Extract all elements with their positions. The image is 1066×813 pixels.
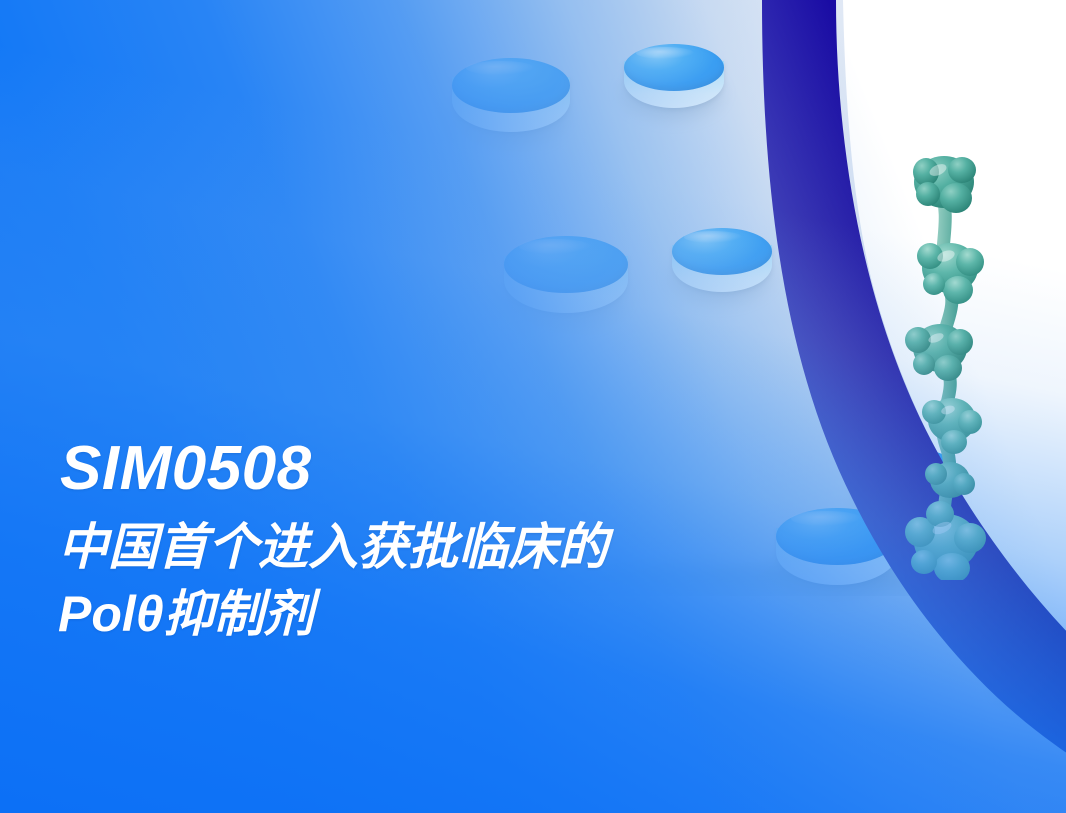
product-name-headline: SIM0508 xyxy=(60,438,608,500)
subtitle-line-1: 中国首个进入获批临床的 xyxy=(58,514,608,581)
slide-canvas: SIM0508 中国首个进入获批临床的 Polθ抑制剂 xyxy=(0,0,1066,813)
headline-block: SIM0508 中国首个进入获批临床的 Polθ抑制剂 xyxy=(58,438,608,648)
brand-blue-overlay-secondary xyxy=(0,0,1066,813)
subtitle-line-2: Polθ抑制剂 xyxy=(58,581,608,648)
